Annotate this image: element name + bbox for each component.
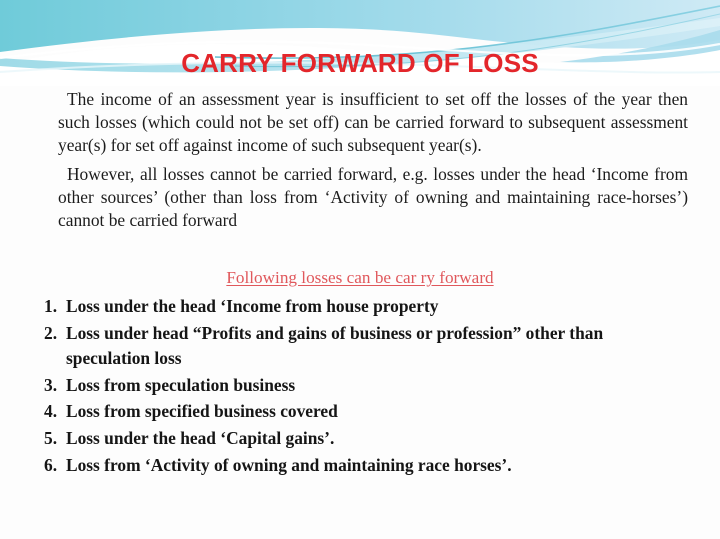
list-item-number: 2. — [44, 321, 57, 347]
list-item-number: 4. — [44, 399, 57, 425]
list-item-number: 6. — [44, 453, 57, 479]
list-item-number: 1. — [44, 294, 57, 320]
sub-heading: Following losses can be car ry forward — [0, 268, 720, 288]
paragraph-2: However, all losses cannot be carried fo… — [58, 163, 688, 233]
list-item: 3. Loss from speculation business — [44, 373, 684, 399]
body-text-block: The income of an assessment year is insu… — [58, 88, 688, 237]
list-item: 4. Loss from specified business covered — [44, 399, 684, 425]
paragraph-1: The income of an assessment year is insu… — [58, 88, 688, 158]
list-item: 1. Loss under the head ‘Income from hous… — [44, 294, 684, 320]
presentation-slide: CARRY FORWARD OF LOSS The income of an a… — [0, 0, 720, 539]
list-item: 2. Loss under head “Profits and gains of… — [44, 321, 684, 372]
list-item: 6. Loss from ‘Activity of owning and mai… — [44, 453, 684, 479]
list-item-label: Loss from speculation business — [66, 375, 295, 395]
list-item-label: Loss under the head ‘Capital gains’. — [66, 428, 334, 448]
list-item-label: Loss under the head ‘Income from house p… — [66, 296, 438, 316]
list-item-label: Loss from ‘Activity of owning and mainta… — [66, 455, 512, 475]
list-item-number: 5. — [44, 426, 57, 452]
list-item-label: Loss from specified business covered — [66, 401, 338, 421]
list-item-label: Loss under head “Profits and gains of bu… — [66, 323, 603, 369]
list-item: 5. Loss under the head ‘Capital gains’. — [44, 426, 684, 452]
page-title: CARRY FORWARD OF LOSS — [0, 48, 720, 79]
carry-forward-loss-list: 1. Loss under the head ‘Income from hous… — [44, 294, 684, 479]
list-item-number: 3. — [44, 373, 57, 399]
